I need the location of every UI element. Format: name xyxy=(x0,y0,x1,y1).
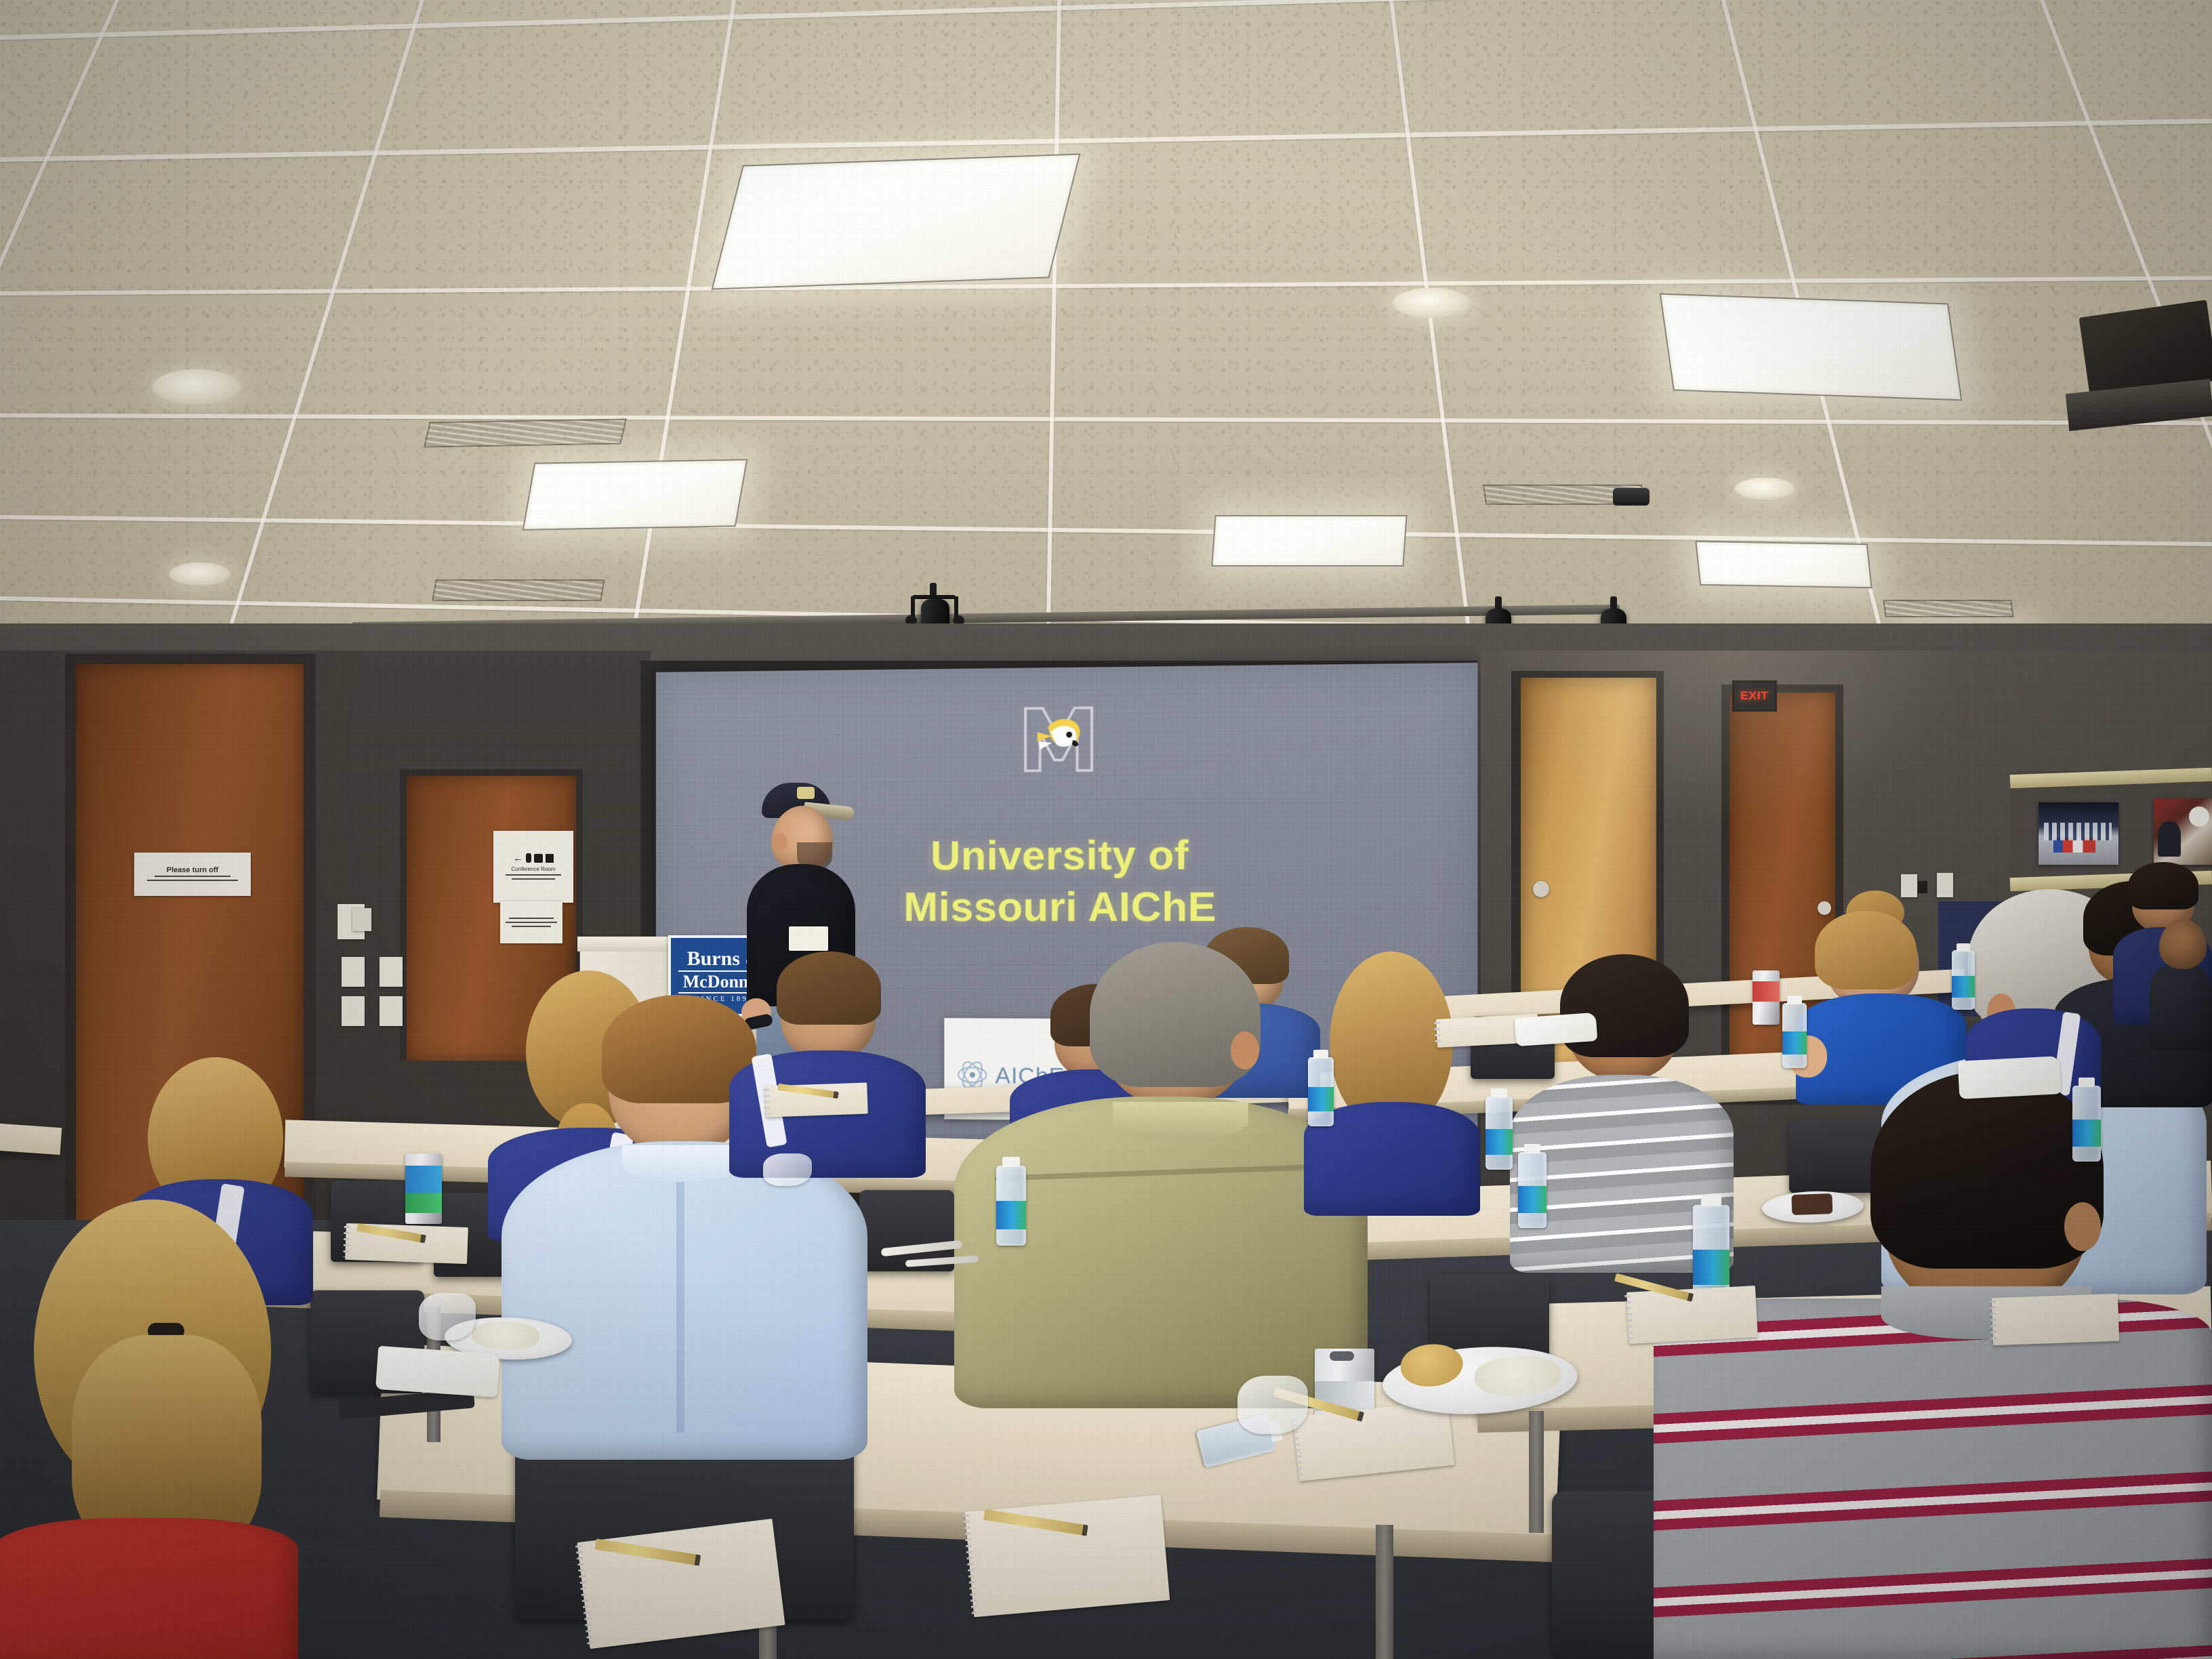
ceiling-light-panel xyxy=(523,459,748,530)
attendee-gray-maroon-striped-front-right xyxy=(1654,1063,2212,1659)
spiral-notepad[interactable] xyxy=(1992,1294,2119,1345)
water-bottle[interactable] xyxy=(1518,1152,1547,1228)
table-leg xyxy=(1529,1411,1544,1533)
water-bottle[interactable] xyxy=(1308,1057,1334,1126)
water-bottle[interactable] xyxy=(1952,950,1975,1010)
torso xyxy=(2150,962,2212,1050)
soda-can[interactable] xyxy=(405,1153,442,1224)
light-switch-plate[interactable] xyxy=(342,957,365,987)
thermostat[interactable] xyxy=(352,908,371,931)
pencil[interactable] xyxy=(983,1509,1084,1536)
water-bottle[interactable] xyxy=(1486,1097,1513,1170)
hair xyxy=(777,951,881,1025)
paper-napkin xyxy=(1515,1012,1598,1046)
shirt-collar xyxy=(1113,1102,1248,1140)
paper-napkin xyxy=(375,1346,500,1397)
door-handle[interactable] xyxy=(1533,881,1549,897)
plastic-wrapper xyxy=(1237,1376,1308,1434)
pencil[interactable] xyxy=(356,1223,422,1242)
soda-can[interactable] xyxy=(1753,970,1780,1025)
exit-sign: EXIT xyxy=(1732,680,1777,712)
recessed-ceiling-light xyxy=(169,562,230,586)
table-left-small xyxy=(0,1122,62,1155)
arrow-left-icon: ← xyxy=(513,853,523,863)
shirt-back-pleat xyxy=(676,1182,684,1433)
cap-logo xyxy=(797,787,815,799)
attendee-blonde-front-red xyxy=(0,1200,305,1659)
spiral-notepad[interactable] xyxy=(1626,1286,1758,1344)
torso-lightblue-shirt xyxy=(501,1141,867,1460)
door-sign-icon-row: ← xyxy=(513,853,554,863)
attendee-back-row-far-right xyxy=(2150,915,2212,1050)
door-notice-sign-center-lower xyxy=(500,901,562,943)
hair xyxy=(2128,862,2198,909)
recessed-ceiling-light xyxy=(1393,288,1471,318)
food-item-coleslaw xyxy=(1473,1354,1562,1398)
display-photo-volunteers-serving-food xyxy=(2154,798,2212,865)
water-bottle[interactable] xyxy=(2072,1086,2101,1162)
plastic-wrapper xyxy=(763,1153,812,1186)
door-notice-sign-left: Please turn off xyxy=(134,853,251,896)
presenter-ear xyxy=(774,833,787,851)
ceiling-air-vent xyxy=(424,418,627,447)
ceiling-air-vent xyxy=(432,579,605,601)
light-switch-plate[interactable] xyxy=(380,996,403,1026)
ceiling-light-panel xyxy=(1211,515,1407,567)
ceiling-air-vent xyxy=(1883,600,2013,617)
light-switch-plate[interactable] xyxy=(380,957,403,987)
door-notice-text: Conference Room xyxy=(512,866,556,873)
door-notice-title: Please turn off xyxy=(167,867,218,874)
ceiling-light-panel xyxy=(712,153,1081,289)
food-item xyxy=(471,1320,539,1351)
conference-room-photo: Please turn off ← Conference Room xyxy=(0,0,2212,1659)
display-photo-group-with-flag xyxy=(2039,802,2118,865)
ceiling-light-panel xyxy=(1660,293,1963,401)
attendee-navy-polo-center-left xyxy=(729,947,926,1178)
plastic-wrapper xyxy=(419,1293,476,1340)
spiral-notepad[interactable] xyxy=(345,1223,468,1264)
spiral-notepad[interactable] xyxy=(765,1082,868,1117)
person-icon xyxy=(526,853,531,863)
food-item-brownie xyxy=(1791,1193,1832,1215)
torso-striped-sweater xyxy=(1654,1298,2212,1659)
water-bottle[interactable] xyxy=(996,1166,1026,1246)
ear xyxy=(1231,1031,1259,1069)
exit-label: EXIT xyxy=(1740,689,1769,703)
ceiling-camera xyxy=(1613,488,1650,506)
wheelchair-icon xyxy=(534,854,543,863)
head xyxy=(2159,919,2207,969)
paper-napkin xyxy=(1958,1056,2062,1099)
ceiling-light-panel xyxy=(1695,541,1872,588)
door-notice-sign-center: ← Conference Room xyxy=(493,831,573,903)
pencil[interactable] xyxy=(777,1084,835,1099)
recessed-ceiling-light xyxy=(1735,478,1795,499)
display-case-top-rail xyxy=(2010,768,2212,788)
ear xyxy=(2064,1202,2101,1251)
light-switch-plate[interactable] xyxy=(342,996,365,1026)
shirt-collar xyxy=(622,1145,744,1182)
can-tab xyxy=(1330,1351,1354,1361)
hair-gray xyxy=(1090,942,1261,1087)
elevator-icon xyxy=(546,854,554,863)
mizzou-tiger-m-logo xyxy=(1019,702,1100,777)
table-leg xyxy=(1376,1525,1393,1659)
pencil[interactable] xyxy=(595,1538,697,1565)
torso-red-shirt xyxy=(0,1518,298,1659)
spiral-notepad[interactable] xyxy=(965,1495,1170,1618)
water-bottle[interactable] xyxy=(1782,1003,1807,1068)
recessed-ceiling-light xyxy=(152,369,241,405)
